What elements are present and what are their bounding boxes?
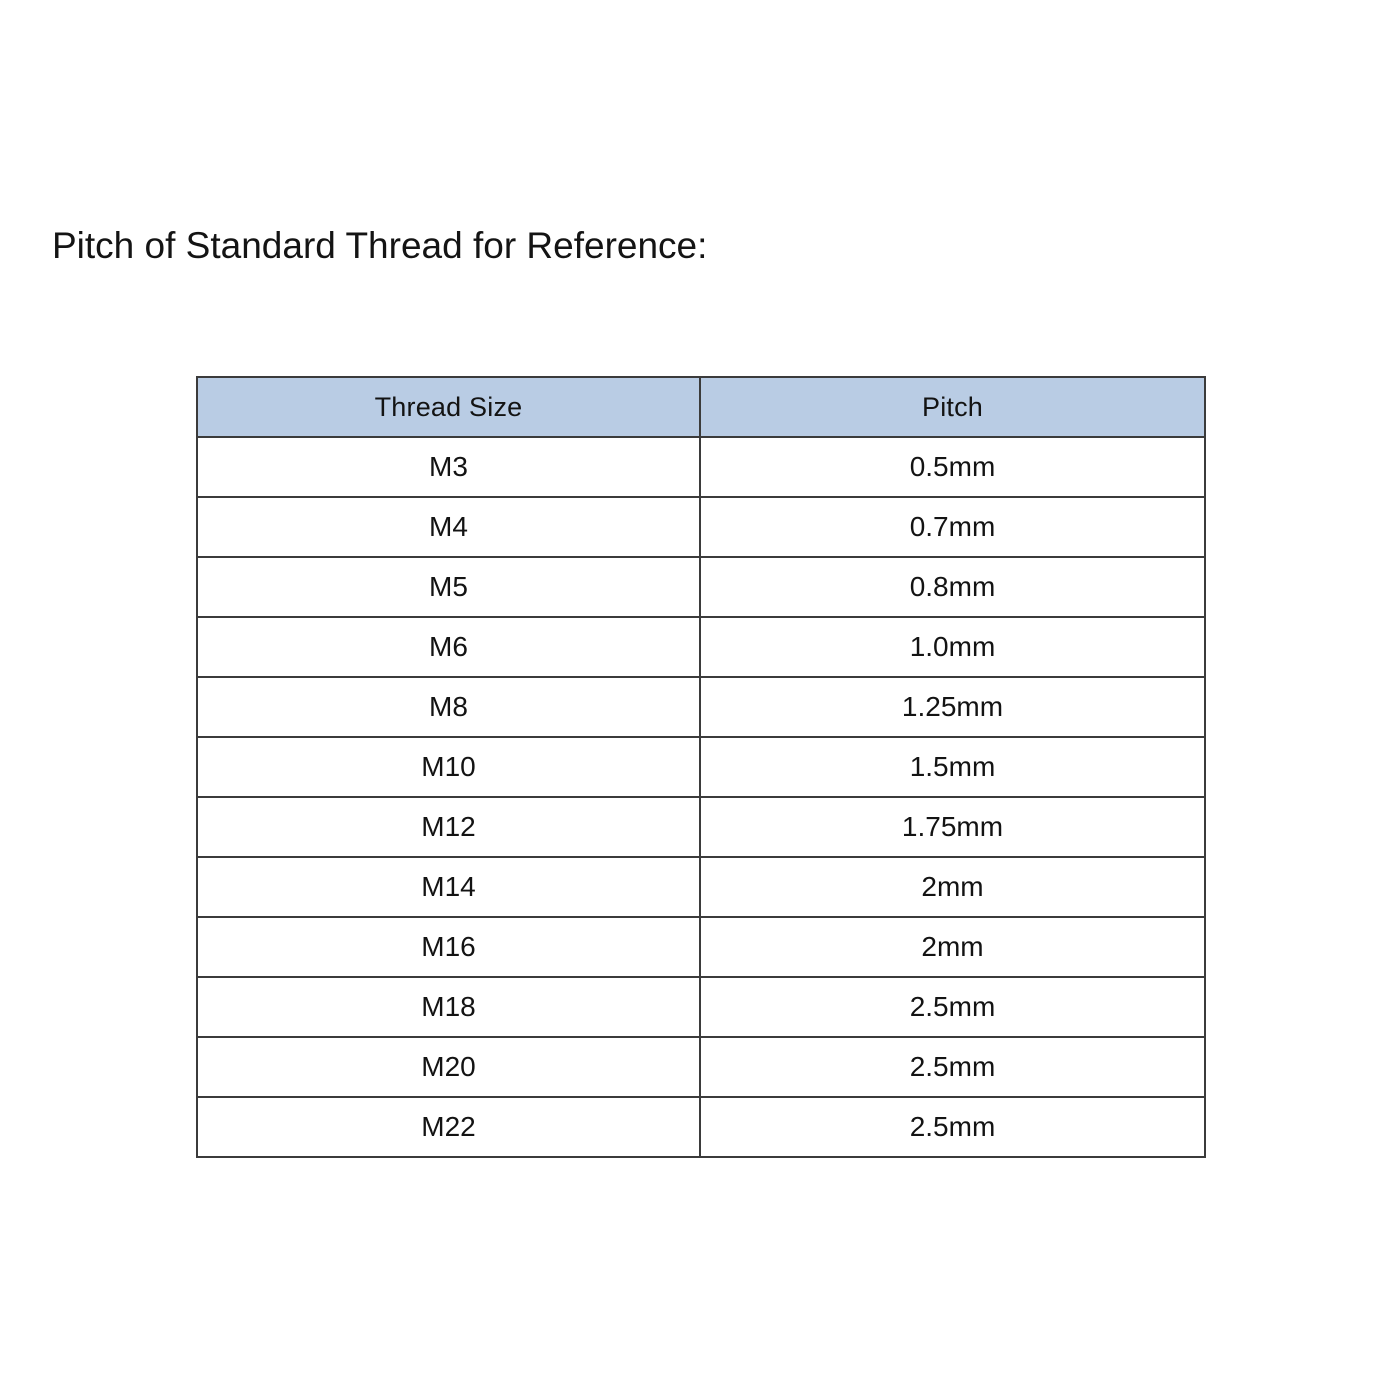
table-row: M202.5mm — [197, 1037, 1205, 1097]
cell-pitch: 1.5mm — [700, 737, 1205, 797]
column-header-thread-size: Thread Size — [197, 377, 700, 437]
table-row: M142mm — [197, 857, 1205, 917]
table-row: M182.5mm — [197, 977, 1205, 1037]
table-header-row: Thread Size Pitch — [197, 377, 1205, 437]
table-row: M61.0mm — [197, 617, 1205, 677]
page-title: Pitch of Standard Thread for Reference: — [52, 223, 707, 269]
cell-thread-size: M18 — [197, 977, 700, 1037]
cell-pitch: 2mm — [700, 917, 1205, 977]
table-row: M81.25mm — [197, 677, 1205, 737]
cell-thread-size: M3 — [197, 437, 700, 497]
cell-thread-size: M4 — [197, 497, 700, 557]
table-row: M101.5mm — [197, 737, 1205, 797]
thread-pitch-table: Thread Size Pitch M30.5mmM40.7mmM50.8mmM… — [196, 376, 1206, 1158]
table-row: M162mm — [197, 917, 1205, 977]
column-header-pitch: Pitch — [700, 377, 1205, 437]
cell-thread-size: M5 — [197, 557, 700, 617]
cell-pitch: 2.5mm — [700, 1097, 1205, 1157]
cell-pitch: 2.5mm — [700, 1037, 1205, 1097]
cell-thread-size: M20 — [197, 1037, 700, 1097]
cell-thread-size: M14 — [197, 857, 700, 917]
table-header: Thread Size Pitch — [197, 377, 1205, 437]
cell-thread-size: M10 — [197, 737, 700, 797]
table-body: M30.5mmM40.7mmM50.8mmM61.0mmM81.25mmM101… — [197, 437, 1205, 1157]
cell-pitch: 2mm — [700, 857, 1205, 917]
cell-pitch: 0.5mm — [700, 437, 1205, 497]
cell-pitch: 2.5mm — [700, 977, 1205, 1037]
cell-pitch: 1.25mm — [700, 677, 1205, 737]
cell-thread-size: M16 — [197, 917, 700, 977]
cell-thread-size: M22 — [197, 1097, 700, 1157]
table-row: M222.5mm — [197, 1097, 1205, 1157]
table-row: M40.7mm — [197, 497, 1205, 557]
table-row: M30.5mm — [197, 437, 1205, 497]
cell-thread-size: M6 — [197, 617, 700, 677]
table-row: M121.75mm — [197, 797, 1205, 857]
cell-thread-size: M8 — [197, 677, 700, 737]
cell-pitch: 1.0mm — [700, 617, 1205, 677]
cell-pitch: 0.7mm — [700, 497, 1205, 557]
table-row: M50.8mm — [197, 557, 1205, 617]
cell-pitch: 1.75mm — [700, 797, 1205, 857]
cell-pitch: 0.8mm — [700, 557, 1205, 617]
cell-thread-size: M12 — [197, 797, 700, 857]
